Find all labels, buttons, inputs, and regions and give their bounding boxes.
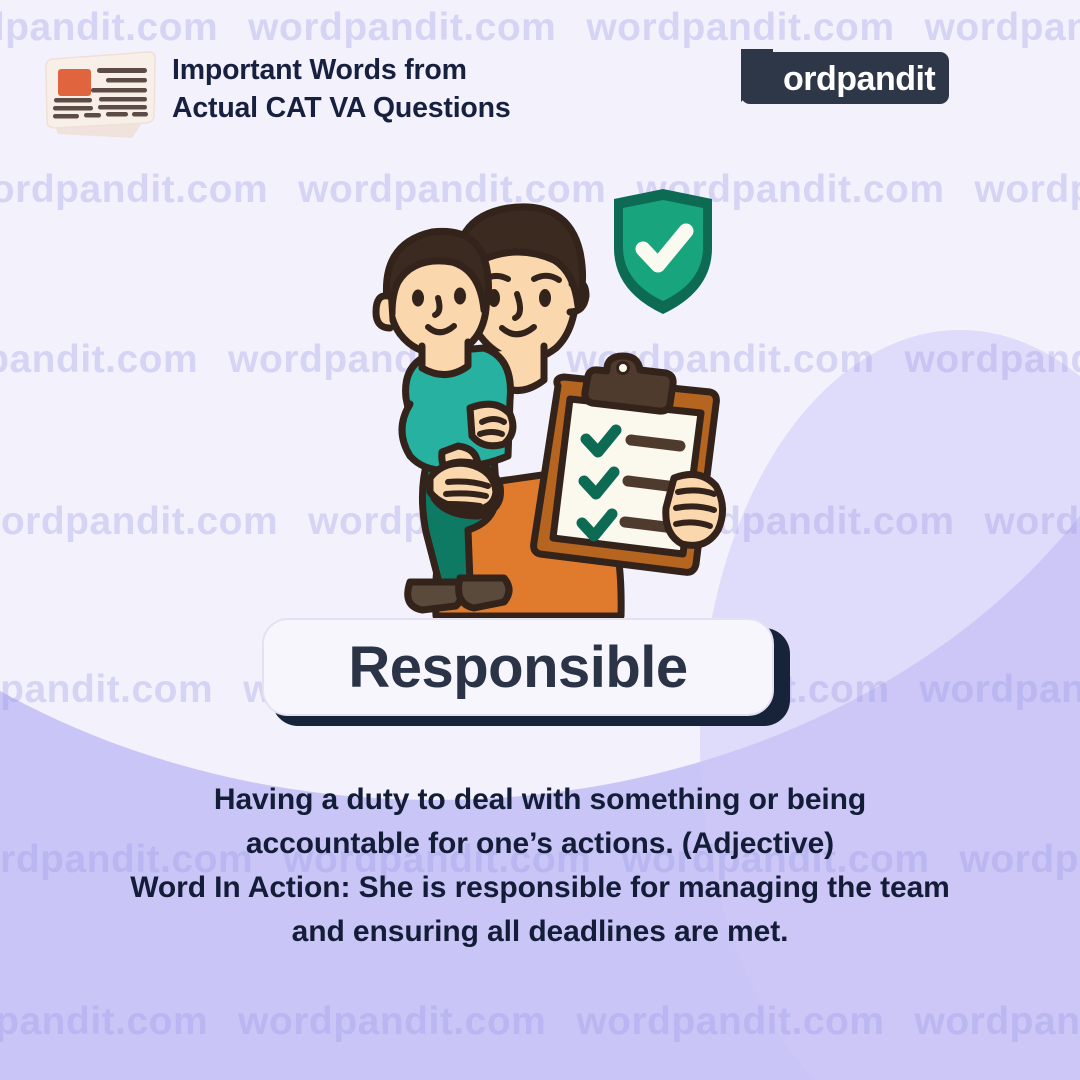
word-card-surface: Responsible <box>262 618 774 716</box>
definition-line-1: Having a duty to deal with something or … <box>20 778 1060 822</box>
definition-block: Having a duty to deal with something or … <box>20 778 1060 954</box>
clipboard-checklist-icon <box>534 356 723 572</box>
shield-check-icon <box>614 189 712 314</box>
parent-child-illustration: .ol { stroke:#33231b; stroke-width:7; st… <box>318 186 754 626</box>
definition-line-4: and ensuring all deadlines are met. <box>20 910 1060 954</box>
logo-text: ordpandit <box>783 60 935 98</box>
page-title-line-2: Actual CAT VA Questions <box>172 90 602 128</box>
word-card-graphic: wordpandit.comwordpandit.comwordpandit.c… <box>0 0 1080 1080</box>
definition-line-2: accountable for one’s actions. (Adjectiv… <box>20 822 1060 866</box>
header: Important Words from Actual CAT VA Quest… <box>0 0 1080 150</box>
word-card: Responsible <box>262 618 790 726</box>
vocabulary-word: Responsible <box>348 634 687 701</box>
page-title-line-1: Important Words from <box>172 52 602 90</box>
wordpandit-logo[interactable]: ordpandit <box>727 46 955 110</box>
newspaper-icon <box>36 42 164 142</box>
definition-line-3: Word In Action: She is responsible for m… <box>20 866 1060 910</box>
page-title: Important Words from Actual CAT VA Quest… <box>172 52 602 127</box>
